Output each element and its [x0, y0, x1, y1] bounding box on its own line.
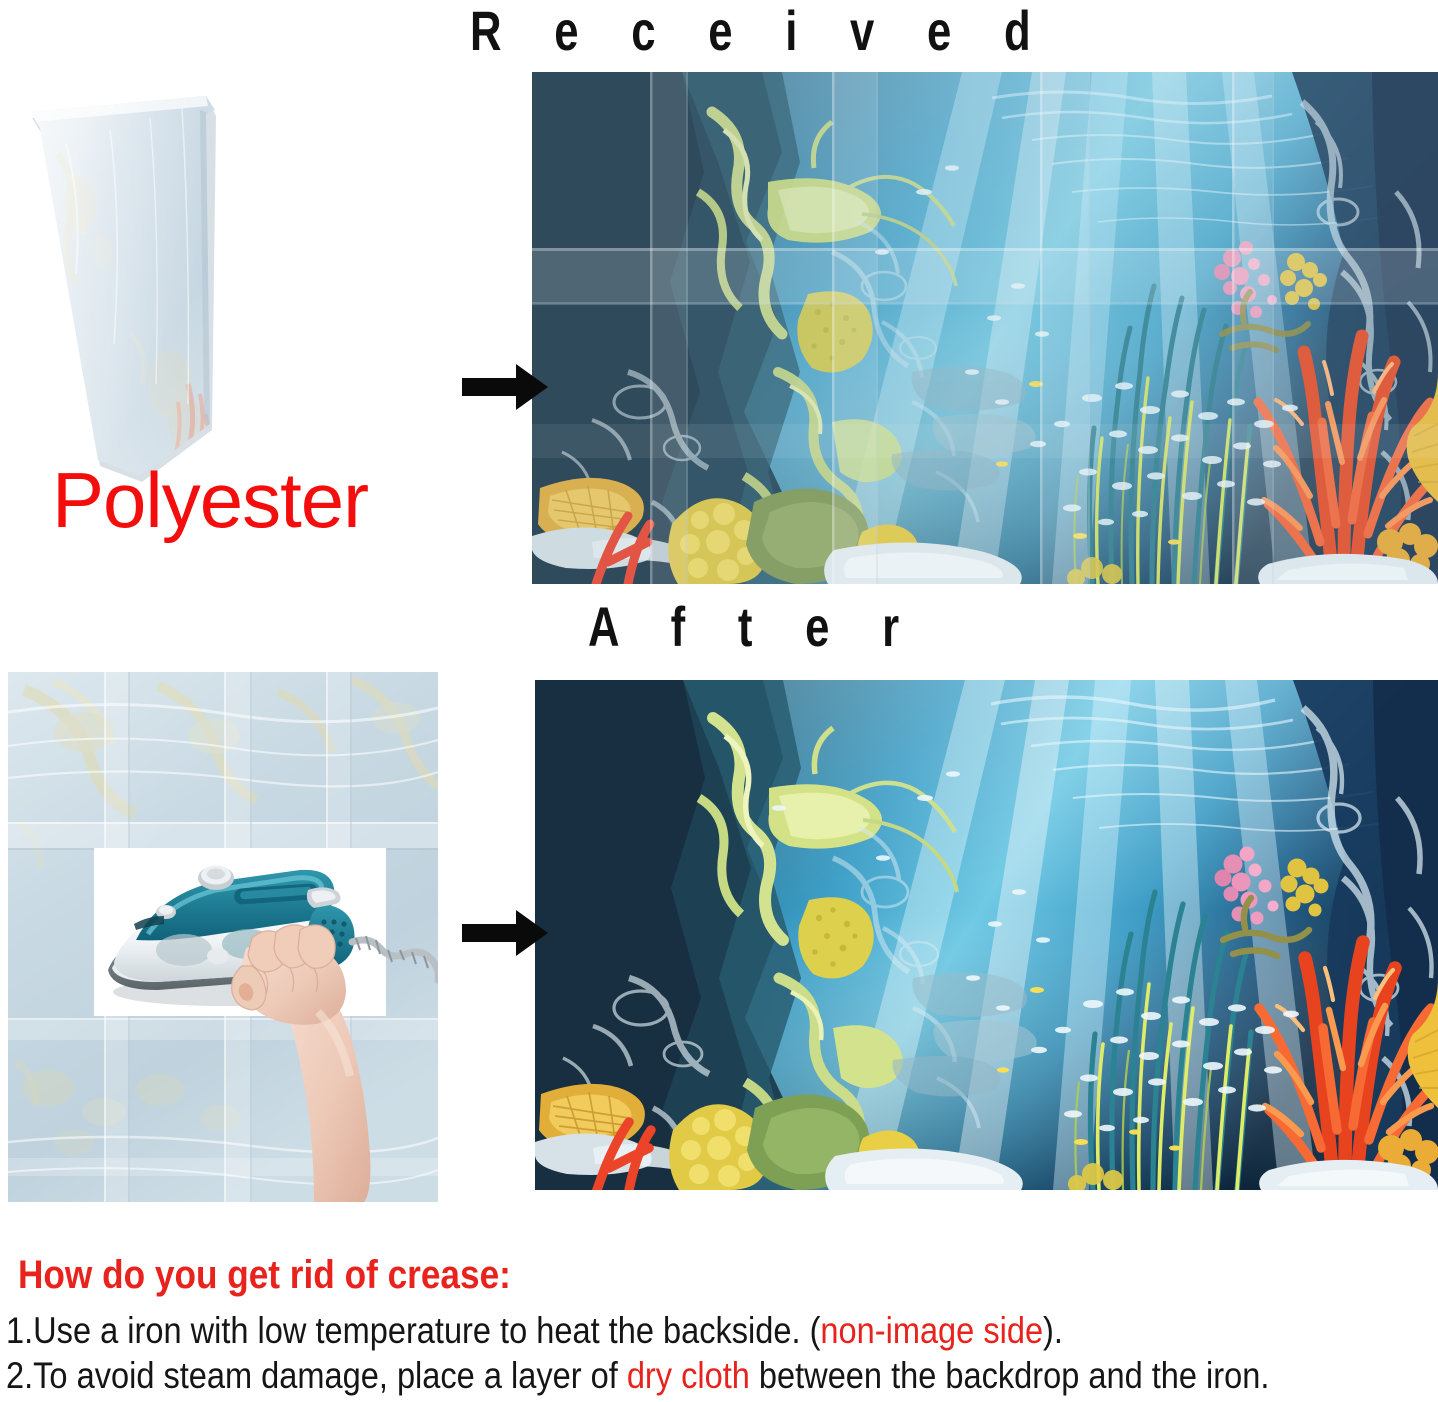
received-backdrop-image — [532, 72, 1438, 584]
instruction-1-prefix: 1.Use a iron with low temperature to hea… — [6, 1310, 820, 1351]
instruction-1-suffix: ). — [1043, 1310, 1063, 1351]
polyester-label: Polyester — [52, 455, 368, 546]
instruction-line-2: 2.To avoid steam damage, place a layer o… — [6, 1355, 1269, 1397]
received-reef-svg — [532, 72, 1438, 584]
page-title-received: R e c e i v e d — [470, 0, 1051, 63]
instruction-2-prefix: 2.To avoid steam damage, place a layer o… — [6, 1355, 627, 1396]
page-title-after: A f t e r — [588, 594, 919, 659]
right-arrow-icon — [462, 362, 550, 417]
instruction-2-suffix: between the backdrop and the iron. — [750, 1355, 1270, 1396]
after-reef-svg — [535, 680, 1438, 1190]
folded-fabric-svg — [10, 84, 430, 484]
instruction-1-highlight: non-image side — [820, 1310, 1043, 1351]
instruction-2-highlight: dry cloth — [627, 1355, 750, 1396]
after-backdrop-image — [535, 680, 1438, 1190]
instruction-line-1: 1.Use a iron with low temperature to hea… — [6, 1310, 1063, 1352]
right-arrow-icon — [462, 908, 550, 963]
fabric-folded-image — [10, 84, 430, 484]
instructions-title: How do you get rid of crease: — [18, 1253, 511, 1298]
ironing-demo-image — [8, 672, 438, 1202]
creased-backdrop-svg — [8, 672, 438, 1202]
